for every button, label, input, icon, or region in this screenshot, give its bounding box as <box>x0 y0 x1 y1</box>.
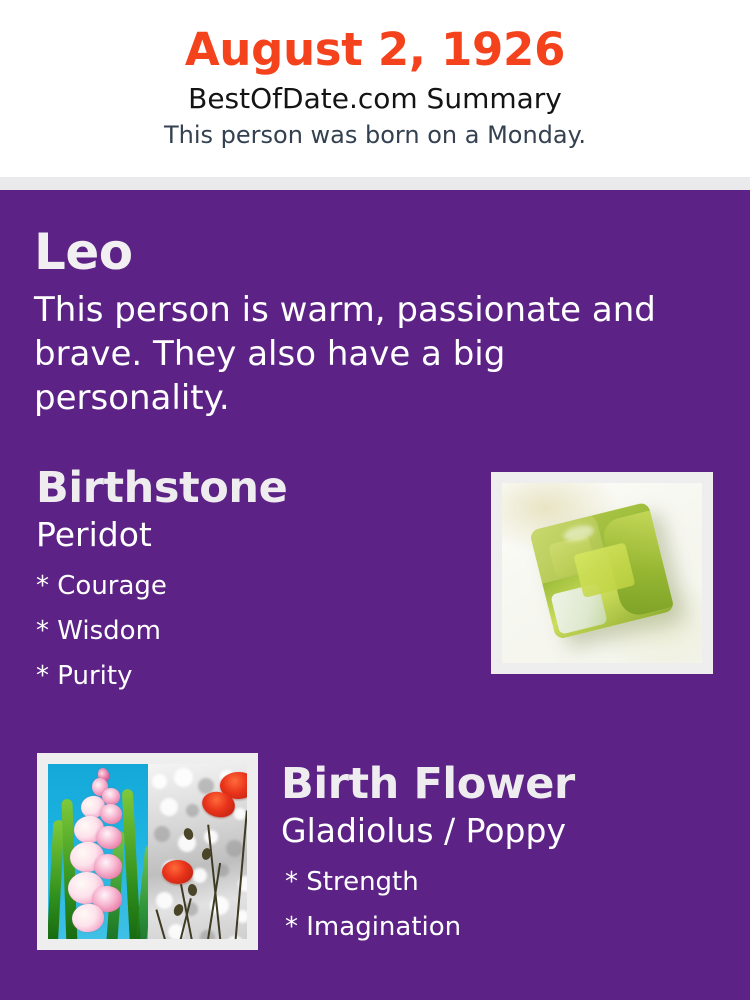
details-panel: Leo This person is warm, passionate and … <box>0 190 750 1000</box>
header-divider <box>0 177 750 190</box>
poppy-photo-half <box>148 764 248 939</box>
birthstone-image-frame <box>491 472 713 674</box>
birth-flower-image-frame <box>37 753 258 950</box>
zodiac-description: This person is warm, passionate and brav… <box>34 288 694 420</box>
gem-shape <box>529 502 674 640</box>
birth-flower-heading: Birth Flower <box>281 757 575 811</box>
peridot-gemstone-photo <box>502 483 702 663</box>
birth-flower-text-block: Birth Flower Gladiolus / Poppy * Strengt… <box>281 753 575 950</box>
birth-flower-section: Birth Flower Gladiolus / Poppy * Strengt… <box>34 753 716 950</box>
gladiolus-and-poppy-photo <box>48 764 247 939</box>
card-header: August 2, 1926 BestOfDate.com Summary Th… <box>0 0 750 177</box>
list-item: * Strength <box>281 860 575 905</box>
birthstone-section: Birthstone Peridot * Courage * Wisdom * … <box>34 461 716 699</box>
zodiac-section: Leo This person is warm, passionate and … <box>34 190 716 420</box>
birth-day-note: This person was born on a Monday. <box>0 119 750 151</box>
summary-card: August 2, 1926 BestOfDate.com Summary Th… <box>0 0 750 1000</box>
birth-flower-name: Gladiolus / Poppy <box>281 810 575 852</box>
zodiac-sign-name: Leo <box>34 222 716 282</box>
list-item: * Imagination <box>281 905 575 950</box>
gladiolus-photo-half <box>48 764 148 939</box>
page-title-date: August 2, 1926 <box>0 22 750 78</box>
site-name: BestOfDate.com Summary <box>0 80 750 118</box>
birth-flower-trait-list: * Strength * Imagination <box>281 860 575 950</box>
